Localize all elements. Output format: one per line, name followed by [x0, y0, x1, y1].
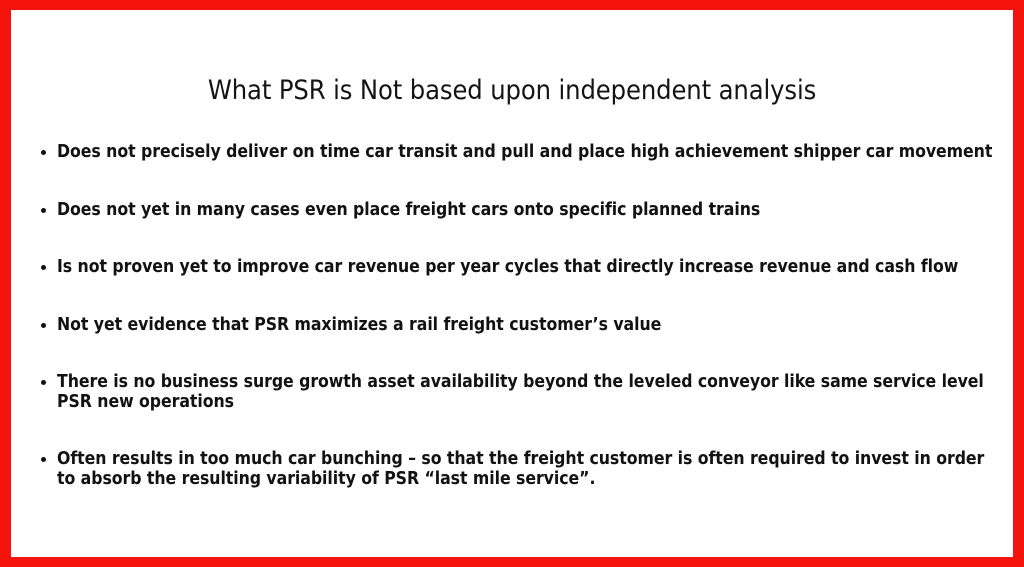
list-item-text: There is no business surge growth asset …	[57, 373, 999, 412]
list-item-text: Does not precisely deliver on time car t…	[57, 143, 999, 163]
list-item: Not yet evidence that PSR maximizes a ra…	[33, 316, 999, 336]
bullet-dot-icon	[41, 208, 46, 213]
list-item-text: Often results in too much car bunching –…	[57, 450, 999, 489]
list-item: Does not yet in many cases even place fr…	[33, 201, 999, 221]
slide-content-area: What PSR is Not based upon independent a…	[11, 10, 1013, 557]
list-item-text: Is not proven yet to improve car revenue…	[57, 258, 999, 278]
list-item: There is no business surge growth asset …	[33, 373, 999, 412]
bullet-dot-icon	[41, 150, 46, 155]
bullet-dot-icon	[41, 265, 46, 270]
bullet-dot-icon	[41, 380, 46, 385]
list-item: Does not precisely deliver on time car t…	[33, 143, 999, 163]
slide-frame: What PSR is Not based upon independent a…	[0, 0, 1024, 567]
list-item-text: Not yet evidence that PSR maximizes a ra…	[57, 316, 999, 336]
list-item-text: Does not yet in many cases even place fr…	[57, 201, 999, 221]
page-title: What PSR is Not based upon independent a…	[11, 75, 1013, 106]
list-item: Often results in too much car bunching –…	[33, 450, 999, 489]
bullet-dot-icon	[41, 457, 46, 462]
bullet-dot-icon	[41, 323, 46, 328]
list-item: Is not proven yet to improve car revenue…	[33, 258, 999, 278]
bullet-list: Does not precisely deliver on time car t…	[33, 143, 999, 489]
